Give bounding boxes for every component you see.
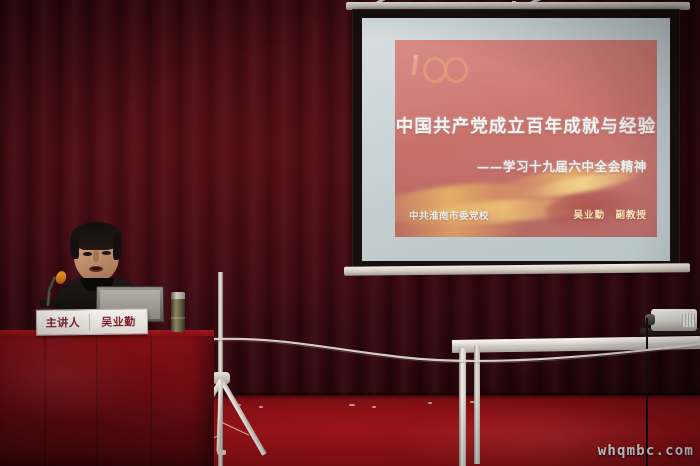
lecture-hall-scene: ★ 中国共产党成立百年成就与经验 ——学习十九届六中全会精神 中共淮南市委党校 … bbox=[0, 0, 700, 466]
emblem-star-icon: ★ bbox=[412, 53, 418, 61]
name-card-name: 吴业勤 bbox=[90, 313, 147, 330]
speaker-nose bbox=[93, 250, 99, 262]
slide-title: 中国共产党成立百年成就与经验 bbox=[395, 113, 657, 138]
slide-subtitle: ——学习十九届六中全会精神 bbox=[395, 156, 647, 175]
thermos-band bbox=[171, 317, 185, 319]
speaker-name-card: 主讲人 吴业勤 bbox=[36, 308, 148, 336]
name-card-role-label: 主讲人 bbox=[37, 314, 89, 331]
speaker-eye-left bbox=[83, 252, 92, 256]
speaker-mouth-opening bbox=[91, 267, 101, 270]
projection-screen: ★ 中国共产党成立百年成就与经验 ——学习十九届六中全会精神 中共淮南市委党校 … bbox=[352, 2, 684, 282]
screen-brand-mark-right: ····· bbox=[644, 268, 652, 272]
watermark: whqmbc.com bbox=[598, 443, 694, 459]
red-table-sheen bbox=[0, 336, 214, 466]
slide-organization: 中共淮南市委党校 bbox=[409, 208, 489, 222]
screen-surface: ★ 中国共产党成立百年成就与经验 ——学习十九届六中全会精神 中共淮南市委党校 … bbox=[362, 18, 670, 261]
slide-centenary-emblem: ★ bbox=[411, 54, 469, 80]
projected-slide: ★ 中国共产党成立百年成就与经验 ——学习十九届六中全会精神 中共淮南市委党校 … bbox=[395, 40, 657, 237]
thermos-bottle bbox=[171, 296, 185, 332]
screen-frame: ★ 中国共产党成立百年成就与经验 ——学习十九届六中全会精神 中共淮南市委党校 … bbox=[352, 9, 680, 269]
slide-presenter: 吴业勤 副教授 bbox=[573, 207, 647, 221]
speaker-hair-right bbox=[113, 234, 122, 260]
emblem-digit-zero bbox=[444, 57, 468, 83]
thermos-cap bbox=[171, 292, 185, 299]
speaker-hair-left bbox=[70, 234, 79, 259]
tripod-foot bbox=[217, 450, 226, 455]
screen-brand-mark-left: ····· bbox=[374, 268, 382, 272]
speaker-eye-right bbox=[102, 251, 111, 255]
